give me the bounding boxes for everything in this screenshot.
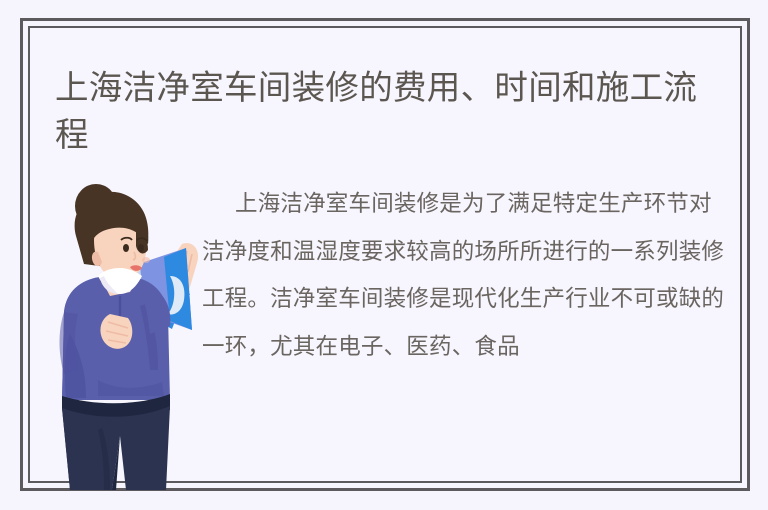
article-body-text: 上海洁净室车间装修是为了满足特定生产环节对洁净度和温湿度要求较高的场所所进行的一… <box>202 180 726 370</box>
page-title: 上海洁净室车间装修的费用、时间和施工流程 <box>55 65 715 159</box>
article-card-inner-border: 上海洁净室车间装修的费用、时间和施工流程 <box>28 26 742 483</box>
article-card: 上海洁净室车间装修的费用、时间和施工流程 <box>20 18 750 491</box>
pants <box>62 406 170 490</box>
woman-with-megaphone-illustration <box>54 184 204 490</box>
